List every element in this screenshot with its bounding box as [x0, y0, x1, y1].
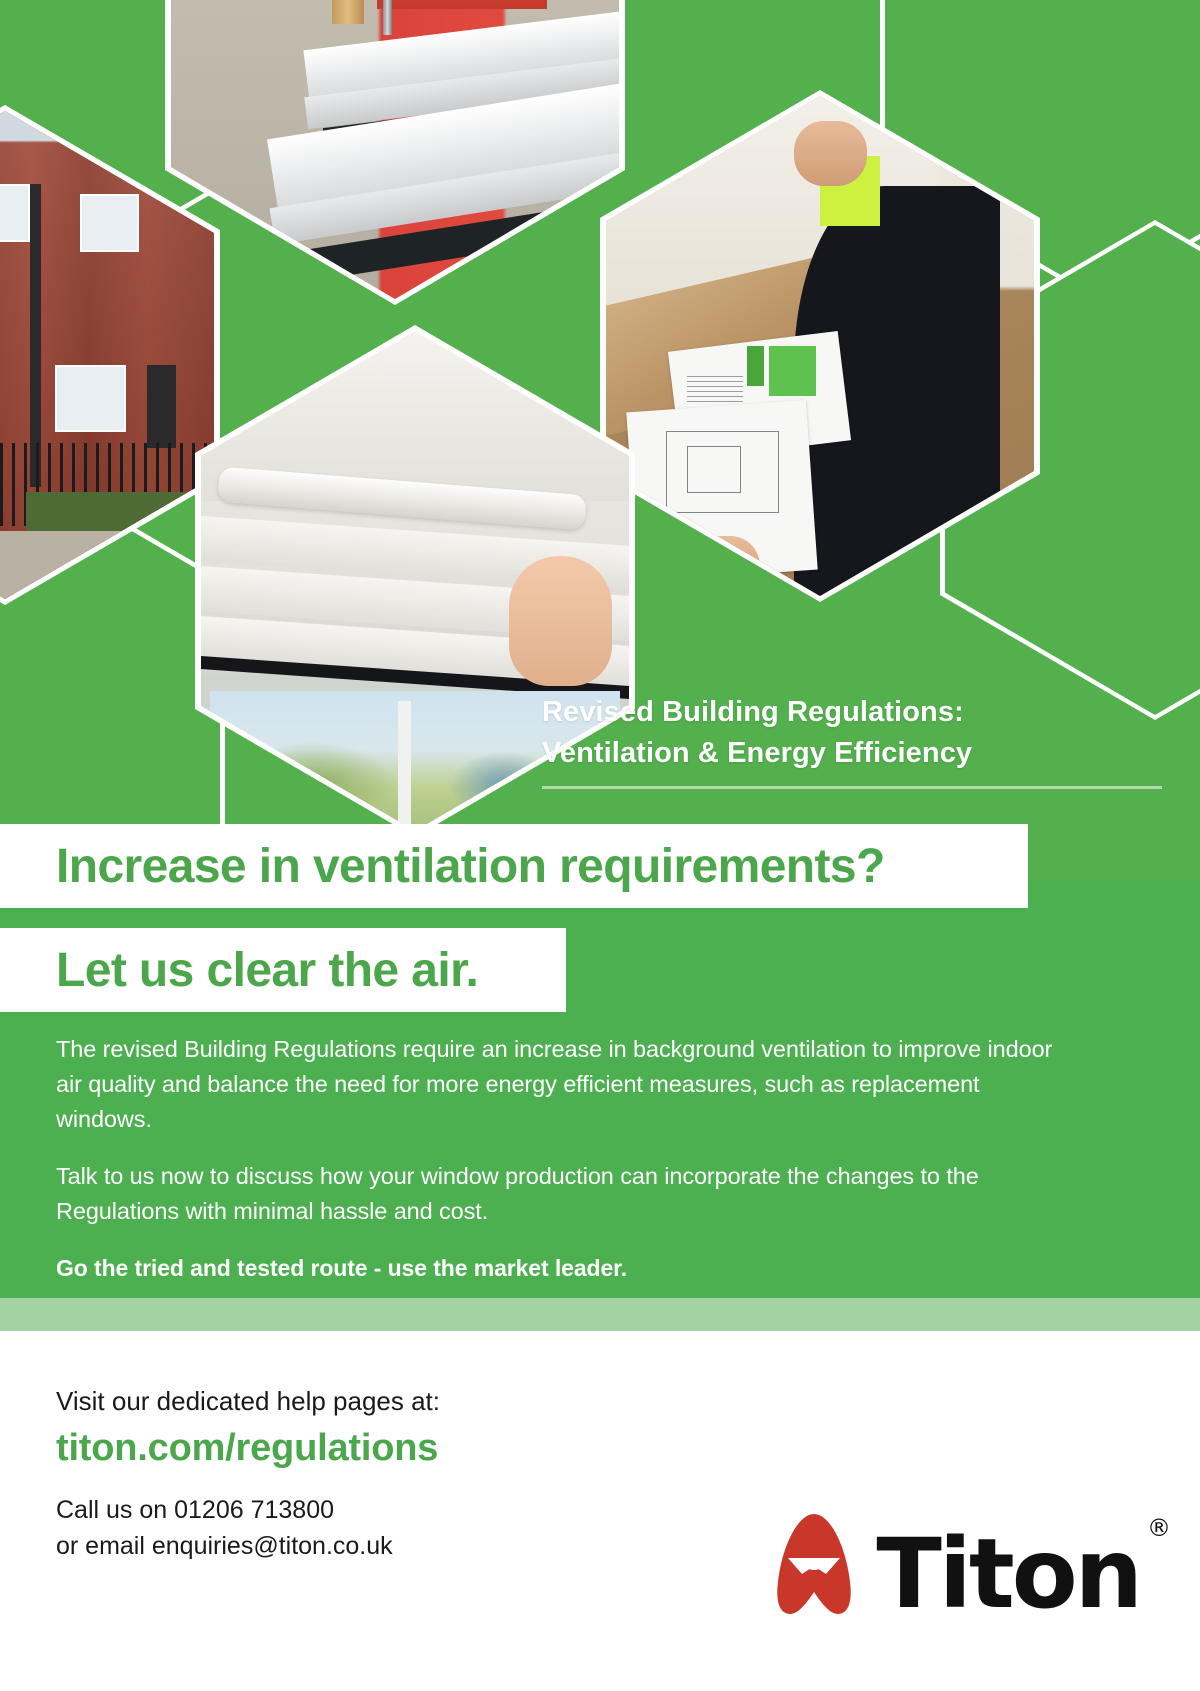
headline-band-2: Let us clear the air. — [0, 928, 566, 1012]
visit-label: Visit our dedicated help pages at: — [56, 1384, 440, 1418]
headline-line-2: Let us clear the air. — [56, 943, 478, 998]
headline-band-1: Increase in ventilation requirements? — [0, 824, 1028, 908]
subtitle-block: Revised Building Regulations: Ventilatio… — [542, 692, 1162, 789]
registered-trademark-icon: ® — [1147, 1518, 1168, 1539]
light-green-divider-bar — [0, 1298, 1200, 1331]
subtitle-line-2: Ventilation & Energy Efficiency — [542, 733, 1162, 774]
email-line[interactable]: or email enquiries@titon.co.uk — [56, 1528, 440, 1564]
body-copy: The revised Building Regulations require… — [56, 1032, 1056, 1286]
help-pages-url[interactable]: titon.com/regulations — [56, 1422, 440, 1474]
subtitle-divider — [542, 786, 1162, 789]
hex-photo-drill — [165, 0, 625, 305]
titon-logomark-icon — [768, 1512, 860, 1616]
subtitle-line-1: Revised Building Regulations: — [542, 692, 1162, 733]
body-cta-line: Go the tried and tested route - use the … — [56, 1251, 1056, 1286]
hero-collage: Revised Building Regulations: Ventilatio… — [0, 0, 1200, 880]
poster: Revised Building Regulations: Ventilatio… — [0, 0, 1200, 1691]
body-paragraph-1: The revised Building Regulations require… — [56, 1032, 1056, 1137]
titon-wordmark-text: Titon — [876, 1518, 1140, 1630]
headline-line-1: Increase in ventilation requirements? — [56, 839, 885, 894]
phone-line[interactable]: Call us on 01206 713800 — [56, 1492, 440, 1528]
titon-logo: Titon ® — [768, 1496, 1140, 1616]
footer-contact-block: Visit our dedicated help pages at: titon… — [56, 1384, 440, 1564]
body-paragraph-2: Talk to us now to discuss how your windo… — [56, 1159, 1056, 1229]
titon-wordmark: Titon ® — [876, 1532, 1140, 1616]
